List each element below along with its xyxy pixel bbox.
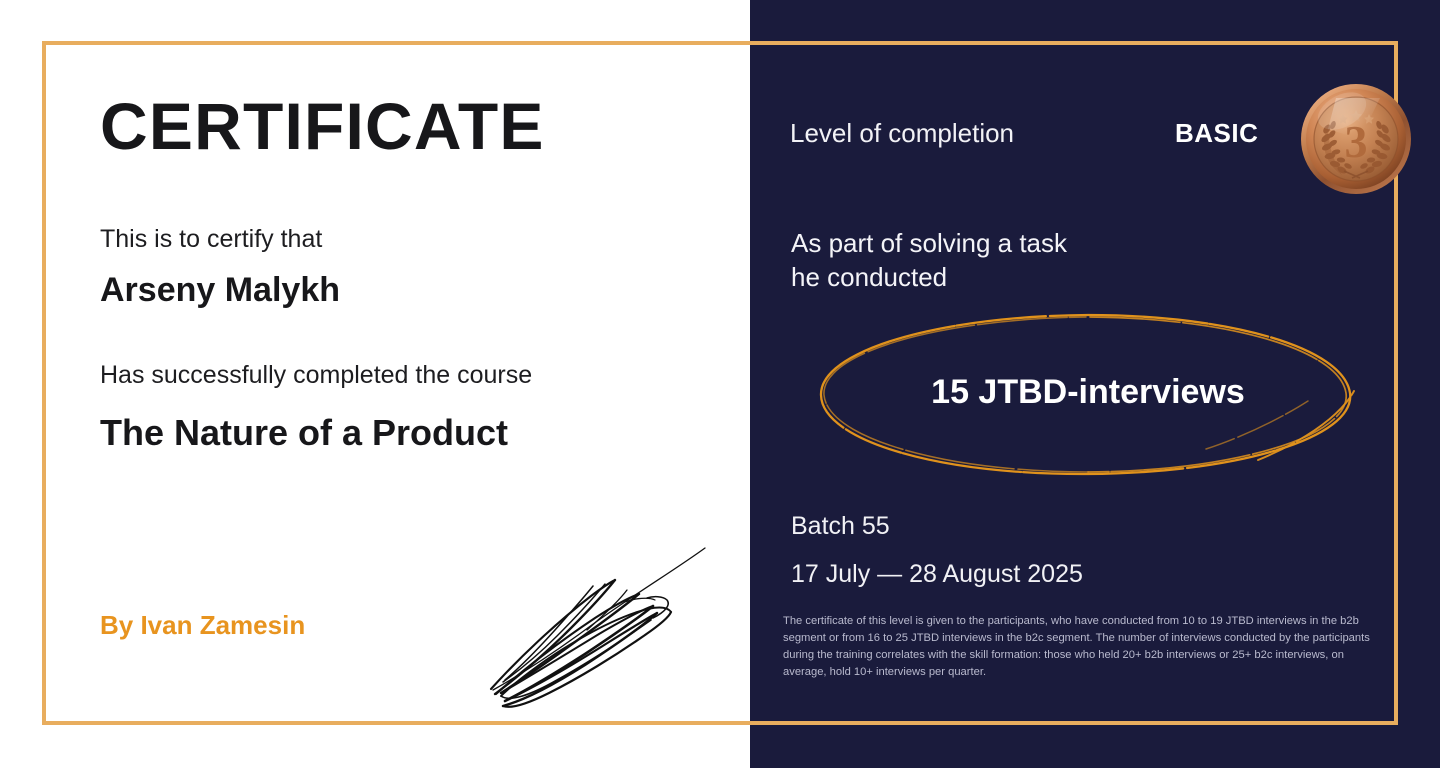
course-label: Has successfully completed the course [100, 361, 532, 390]
level-label: Level of completion [790, 118, 1014, 149]
left-panel-content: CERTIFICATE This is to certify that Arse… [100, 0, 700, 768]
signature-icon [475, 538, 720, 713]
issuer-name: By Ivan Zamesin [100, 610, 305, 641]
course-dates: 17 July — 28 August 2025 [791, 560, 1083, 589]
bronze-medal-icon: 3 [1298, 81, 1414, 197]
interviews-count-highlight: 15 JTBD-interviews [788, 373, 1388, 412]
right-panel-content: Level of completion BASIC [750, 0, 1440, 768]
course-name: The Nature of a Product [100, 412, 508, 454]
certificate-title: CERTIFICATE [100, 93, 545, 159]
fineprint-disclaimer: The certificate of this level is given t… [783, 613, 1375, 681]
certificate-page: CERTIFICATE This is to certify that Arse… [0, 0, 1440, 768]
highlight-circled-block: 15 JTBD-interviews [788, 305, 1388, 485]
task-description: As part of solving a task he conducted [791, 226, 1067, 295]
batch-label: Batch 55 [791, 512, 890, 541]
recipient-name: Arseny Malykh [100, 271, 340, 310]
certify-label: This is to certify that [100, 225, 322, 254]
level-of-completion-row: Level of completion BASIC [790, 118, 1410, 164]
level-value-badge: BASIC [1175, 118, 1258, 149]
